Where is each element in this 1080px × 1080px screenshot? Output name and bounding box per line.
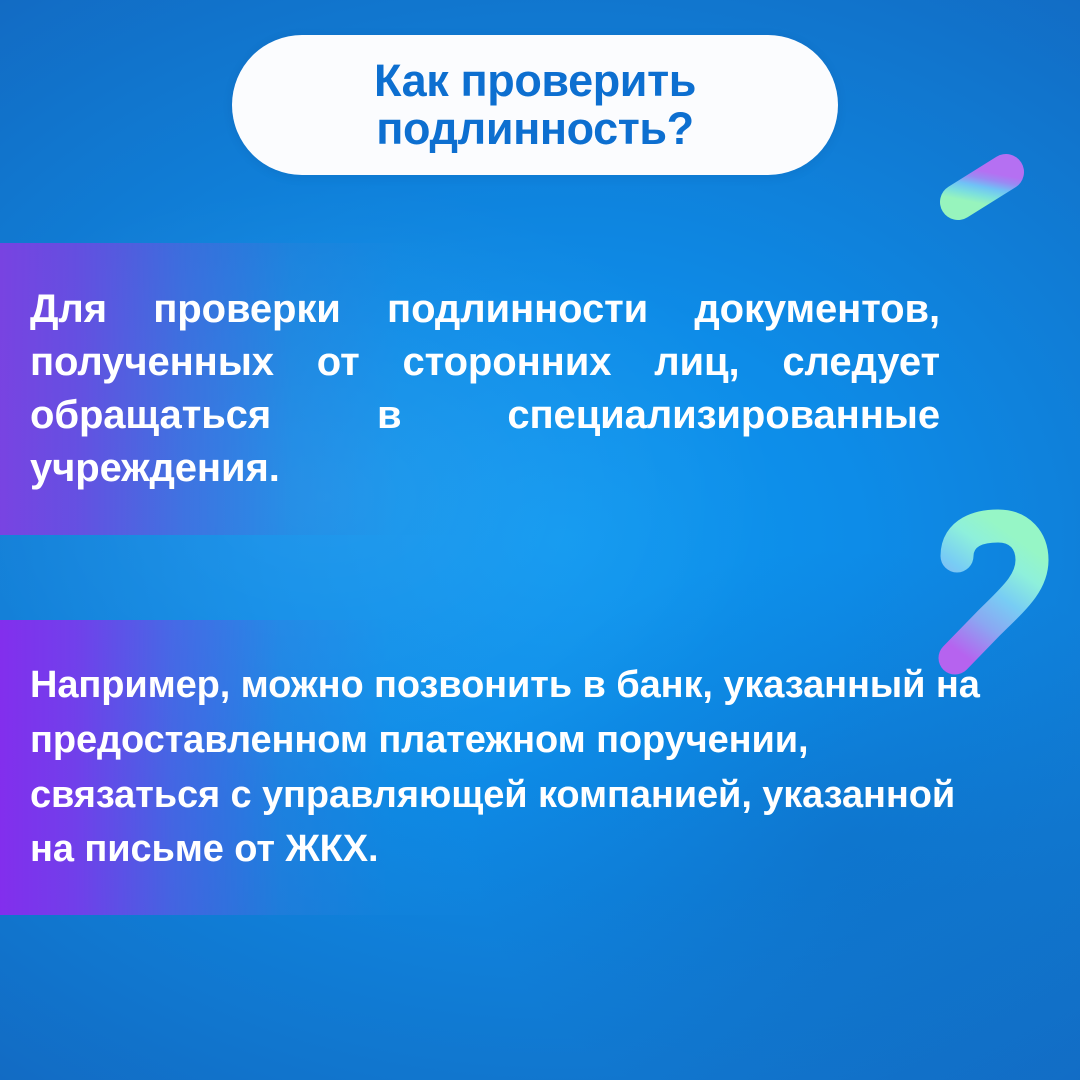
step-block-1: Для проверки подлинности документов, пол… — [0, 243, 1080, 535]
page-title: Как проверить подлинность? — [374, 57, 696, 153]
step-1-text: Для проверки подлинности документов, пол… — [0, 283, 940, 496]
title-pill: Как проверить подлинность? — [232, 35, 838, 175]
step-2-text: Например, можно позвонить в банк, указан… — [0, 658, 990, 877]
step-block-2: Например, можно позвонить в банк, указан… — [0, 620, 1080, 915]
poster-canvas: Как проверить подлинность? — [0, 0, 1080, 1080]
